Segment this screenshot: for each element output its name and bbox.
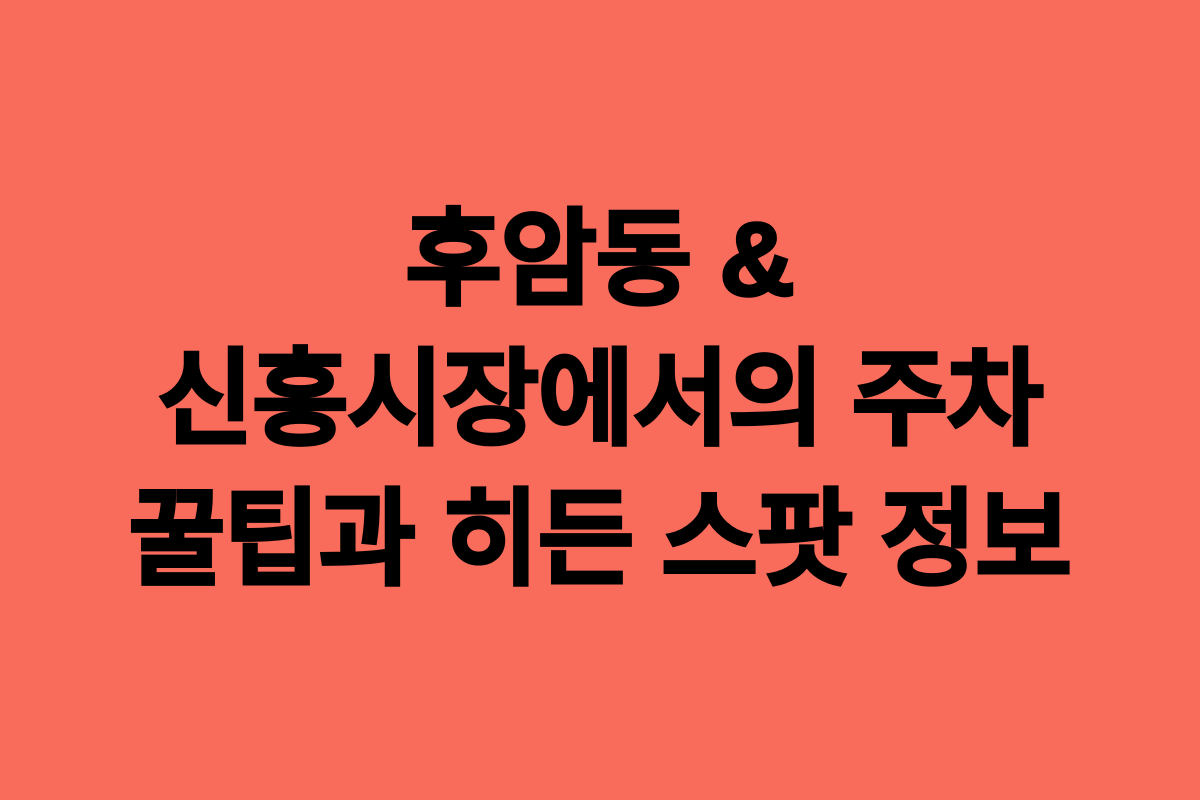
title-line-3: 꿀팁과 히든 스팟 정보 [14, 470, 1186, 610]
page-title: 후암동 & 신흥시장에서의 주차 꿀팁과 히든 스팟 정보 [0, 190, 1200, 610]
title-card: 후암동 & 신흥시장에서의 주차 꿀팁과 히든 스팟 정보 [0, 0, 1200, 800]
title-line-2: 신흥시장에서의 주차 [14, 330, 1186, 470]
title-line-1: 후암동 & [14, 190, 1186, 330]
